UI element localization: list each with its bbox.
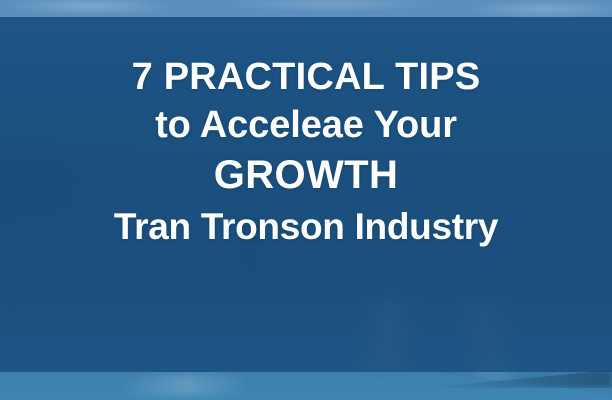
promotional-poster: 7 PRACTICAL TIPS to Acceleae Your GROWTH… [0,0,612,400]
headline-block: 7 PRACTICAL TIPS to Acceleae Your GROWTH… [0,0,612,400]
headline-line-4: Tran Tronson Industry [114,207,498,247]
headline-line-3: GROWTH [214,154,399,197]
headline-line-2: to Acceleae Your [155,105,457,146]
headline-line-1: 7 PRACTICAL TIPS [132,57,481,98]
